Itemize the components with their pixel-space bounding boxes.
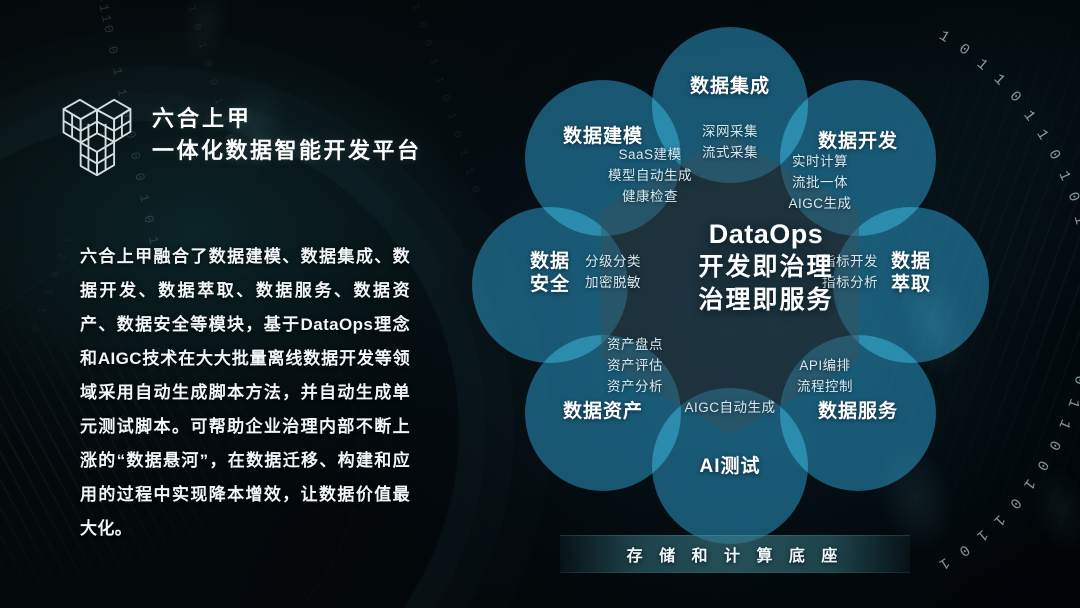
label-ai-testing[interactable]: AI测试	[660, 455, 800, 478]
label-data-integration[interactable]: 数据集成	[660, 75, 800, 98]
overlap-modeling: SaaS建模 模型自动生成 健康检查	[585, 145, 715, 208]
label-data-asset[interactable]: 数据资产	[533, 400, 673, 423]
overlap-aigc-auto: AIGC自动生成	[665, 398, 795, 419]
overlap-computation: 实时计算 流批一体 AIGC生成	[760, 152, 880, 215]
brand-name: 六合上甲	[152, 105, 422, 133]
brand-text: 六合上甲 一体化数据智能开发平台	[152, 103, 422, 165]
foundation-bar[interactable]: 存 储 和 计 算 底 座	[560, 535, 910, 573]
foundation-bar-label: 存 储 和 计 算 底 座	[627, 542, 844, 566]
center-title: DataOps 开发即治理 治理即服务	[626, 218, 906, 317]
overlap-api: API编排 流程控制	[770, 356, 880, 398]
brand-subtitle: 一体化数据智能开发平台	[152, 137, 422, 165]
left-panel: 六合上甲 一体化数据智能开发平台 六合上甲融合了数据建模、数据集成、数据开发、数…	[0, 0, 470, 608]
isometric-brick-logo-icon	[58, 92, 136, 176]
venn-diagram: 数据集成 数据开发 数据 萃取 数据服务 AI测试 数据资产 数据 安全 数据建…	[450, 0, 1080, 608]
overlap-asset: 资产盘点 资产评估 资产分析	[580, 335, 690, 398]
center-title-en: DataOps	[626, 218, 906, 251]
center-title-cn1: 开发即治理	[626, 251, 906, 284]
label-data-development[interactable]: 数据开发	[788, 130, 928, 153]
center-title-cn2: 治理即服务	[626, 284, 906, 317]
product-description: 六合上甲融合了数据建模、数据集成、数据开发、数据萃取、数据服务、数据资产、数据安…	[80, 240, 410, 546]
brand-lockup: 六合上甲 一体化数据智能开发平台	[58, 92, 422, 176]
label-data-service[interactable]: 数据服务	[788, 400, 928, 423]
slide-canvas: 0110 0 1 1 0 0 0 0 1 0 1 0 1 0 1 0 0 1 1…	[0, 0, 1080, 608]
